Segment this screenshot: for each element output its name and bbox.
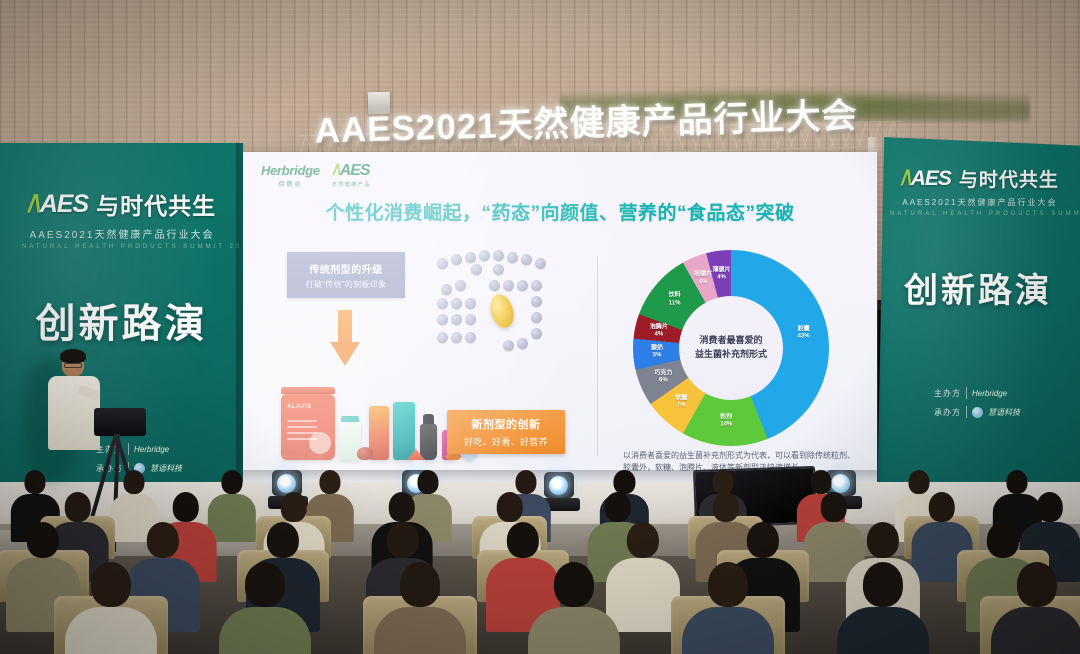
donut-chart: 消费者最喜爱的 益生菌补充剂形式 胶囊43%粉剂14%软糖7%巧克力6%酸奶5%… (615, 248, 859, 458)
audience-head (280, 492, 307, 522)
herbridge-logo-text: Herbridge (261, 163, 320, 178)
slide-title: 个性化消费崛起，“药态”向颜值、营养的“食品态”突破 (243, 198, 877, 225)
sponsor-logo-host-right: 慧语科技 (988, 407, 1020, 418)
audience-head (987, 522, 1019, 558)
audience-member (219, 562, 311, 654)
sponsor-divider-right-2 (966, 406, 967, 418)
pill-character-graphic (431, 250, 581, 372)
audience-body (991, 607, 1080, 654)
conference-photo: AAES2021天然健康产品行业大会 /\AES 与时代共生 AAES2021天… (0, 0, 1080, 654)
projection-screen: Herbridge 佰傲谷 /\AES 天然健康产品 个性化消费崛起，“药态”向… (243, 152, 877, 482)
audience-head (908, 470, 929, 494)
audience-member (836, 562, 928, 654)
audience-head (820, 492, 847, 522)
sponsor-label-host-right: 承办方 (934, 407, 961, 418)
traditional-dosage-callout: 传统剂型的升级 打破“传统”的刻板印象 (287, 252, 405, 298)
aes-slide-logo-text: /\AES (333, 162, 370, 180)
donut-center-line1: 消费者最喜爱的 (672, 334, 790, 348)
audience-head (91, 562, 131, 607)
audience-head (712, 470, 733, 494)
audience-head (867, 522, 899, 558)
audience-body (682, 607, 774, 654)
sponsor-label-right: 主办方 (934, 388, 961, 399)
audience-head (27, 522, 59, 558)
orange-box-line2: 好吃、好看、好营养 (464, 435, 548, 448)
product-jar-label: ALAVIS (287, 404, 312, 410)
audience-member (374, 562, 466, 654)
donut-label-酸奶: 酸奶5% (651, 345, 663, 360)
right-panel-sponsors: 主办方 Herbridge 承办方 慧语科技 (934, 387, 1020, 425)
video-camera (94, 408, 146, 436)
audience-head (810, 470, 831, 494)
donut-label-胶囊: 胶囊43% (798, 326, 810, 341)
product-dropper-bottle (420, 424, 437, 460)
right-panel-subtitle-en: NATURAL HEALTH PRODUCTS SUMMIT 2021 (890, 211, 1070, 217)
donut-label-软糖: 软糖7% (675, 395, 687, 410)
donut-label-咀嚼片: 咀嚼片4% (694, 272, 712, 287)
audience-head (172, 492, 199, 522)
aes-logo-icon: /\AES (28, 190, 88, 219)
left-panel-logo-row: /\AES 与时代共生 (22, 187, 222, 221)
aes-slide-logo: /\AES 天然健康产品 (332, 162, 371, 188)
donut-label-薄膜片: 薄膜片4% (713, 267, 731, 282)
audience-head (614, 470, 635, 494)
audience-body (65, 607, 157, 654)
audience-body (528, 607, 620, 654)
sponsor-row-host-right: 承办方 慧语科技 (934, 406, 1020, 418)
herbridge-logo-cn: 佰傲谷 (278, 179, 302, 188)
audience-member (991, 562, 1080, 654)
audience-head (25, 470, 46, 494)
gummy-red-icon (357, 447, 373, 460)
product-jar: ALAVIS (281, 394, 335, 460)
aes-logo-icon-right: /\AES (901, 167, 951, 191)
donut-center-line2: 益生菌补充剂形式 (672, 348, 790, 362)
gold-capsule-icon (487, 292, 518, 331)
audience-head (123, 470, 144, 494)
audience-head (627, 522, 659, 558)
gray-box-line2: 打破“传统”的刻板印象 (306, 279, 387, 290)
audience-head (708, 562, 748, 607)
audience-head (221, 470, 242, 494)
product-bottle-teal (393, 402, 415, 460)
audience-member (528, 562, 620, 654)
down-arrow-icon (330, 310, 360, 366)
donut-label-饮料: 饮料11% (669, 293, 681, 308)
audience-head (64, 492, 91, 522)
orange-box-line1: 新剂型的创新 (472, 416, 541, 432)
left-panel-subtitle-en: NATURAL HEALTH PRODUCTS SUMMIT 2021 (22, 244, 222, 250)
audience-member (682, 562, 774, 654)
audience-head (496, 492, 523, 522)
audience-head (267, 522, 299, 558)
slide-column-divider (597, 256, 598, 456)
audience-seating (0, 470, 1080, 654)
right-panel-slogan: 与时代共生 (959, 165, 1059, 192)
donut-label-粉剂: 粉剂14% (720, 414, 732, 429)
speaker-hair (60, 349, 86, 363)
left-panel-subtitle: AAES2021天然健康产品行业大会 (22, 226, 222, 241)
audience-head (862, 562, 902, 607)
audience-head (604, 492, 631, 522)
audience-head (516, 470, 537, 494)
audience-head (507, 522, 539, 558)
audience-head (1007, 470, 1028, 494)
gray-box-line1: 传统剂型的升级 (309, 261, 383, 276)
audience-head (245, 562, 285, 607)
right-panel-headline: 创新路演 (876, 263, 1080, 312)
audience-head (554, 562, 594, 607)
sponsor-row-organizer-right: 主办方 Herbridge (934, 387, 1020, 399)
audience-body (374, 607, 466, 654)
audience-head (1017, 562, 1057, 607)
audience-body (836, 607, 928, 654)
donut-center-label: 消费者最喜爱的 益生菌补充剂形式 (672, 334, 790, 362)
right-panel-subtitle: AAES2021天然健康产品行业大会 (890, 197, 1070, 208)
speaker-glasses-icon (64, 363, 82, 368)
sponsor-divider-right (966, 387, 967, 399)
audience-head (747, 522, 779, 558)
audience-head (1036, 492, 1063, 522)
herbridge-logo: Herbridge 佰傲谷 (261, 163, 320, 188)
audience-head (387, 522, 419, 558)
audience-head (712, 492, 739, 522)
audience-head (319, 470, 340, 494)
slide-logo-row: Herbridge 佰傲谷 /\AES 天然健康产品 (261, 162, 371, 188)
left-panel-headline: 创新路演 (0, 291, 243, 349)
audience-head (400, 562, 440, 607)
audience-head (928, 492, 955, 522)
audience-head (388, 492, 415, 522)
donut-label-泡腾片: 泡腾片4% (650, 324, 668, 339)
sponsor-logo-herbridge-right: Herbridge (972, 389, 1007, 398)
audience-body (219, 607, 311, 654)
new-dosage-callout: 新剂型的创新 好吃、好看、好营养 (447, 410, 565, 454)
audience-head (147, 522, 179, 558)
aes-slide-logo-cn: 天然健康产品 (332, 181, 371, 188)
left-panel-slogan: 与时代共生 (96, 187, 216, 221)
sponsor-badge-icon-right (972, 407, 983, 418)
donut-label-巧克力: 巧克力6% (654, 370, 672, 385)
audience-member (65, 562, 157, 654)
right-panel-logo-row: /\AES 与时代共生 (890, 165, 1070, 192)
audience-head (418, 470, 439, 494)
